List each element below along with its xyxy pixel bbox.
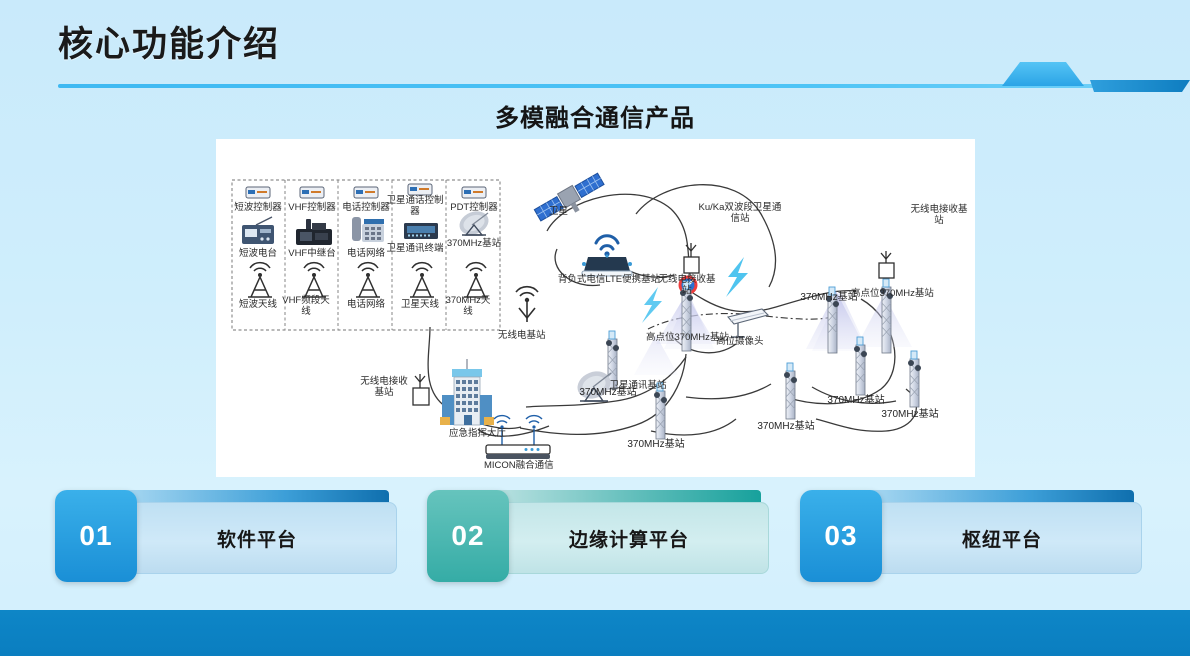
node-label-t370-6: 370MHz基站 xyxy=(875,409,945,421)
wireless-waves-icon xyxy=(516,287,538,322)
grid-cell-controller-3: 卫星通话控制器 xyxy=(386,194,444,217)
node-label-t370-3: 370MHz基站 xyxy=(751,421,821,433)
corner-accent-bump xyxy=(1002,62,1084,86)
radio-receiver-icon-left xyxy=(413,374,429,405)
node-label-radio-recv-mid: 无线电接收基站 xyxy=(656,275,718,297)
footer-bar xyxy=(0,610,1190,656)
card-label-1: 软件平台 xyxy=(189,525,297,552)
card-number-1: 01 xyxy=(55,490,137,582)
portable-basestation-icon xyxy=(582,236,632,276)
card-label-3: 枢纽平台 xyxy=(934,525,1042,552)
radio-receiver-icon-mid xyxy=(684,243,699,273)
corner-accent-tail xyxy=(1090,80,1190,92)
diagram-panel: 短波控制器 VHF控制器 电话控制器 卫星通话控制器 PDT控制器 短波电台 V… xyxy=(216,139,975,477)
building-icon xyxy=(440,359,494,425)
node-label-radio-recv-left: 无线电接收基站 xyxy=(356,377,412,399)
node-label-t370-5: 370MHz基站 xyxy=(821,395,891,407)
node-label-t370-1: 370MHz基站 xyxy=(573,387,643,399)
node-label-micon: MICON融合通信 xyxy=(484,461,554,472)
node-label-kuka-station: Ku/Ka双波段卫星通信站 xyxy=(698,203,782,225)
slide-root: 核心功能介绍 多模融合通信产品 xyxy=(0,0,1190,656)
platform-card-1[interactable]: 软件平台 01 xyxy=(55,490,395,582)
lightning-icon xyxy=(726,257,748,297)
diagram-subtitle: 多模融合通信产品 xyxy=(0,98,1190,133)
grid-cell-controller-4: PDT控制器 xyxy=(441,201,507,214)
controller-icons xyxy=(246,184,486,198)
node-label-t370-4: 370MHz基站 xyxy=(794,292,864,304)
node-label-t370-2: 370MHz基站 xyxy=(621,439,691,451)
antenna-tower-icons xyxy=(248,263,488,297)
platform-card-2[interactable]: 边缘计算平台 02 xyxy=(427,490,767,582)
grid-cell-antenna-1: VHF频段天线 xyxy=(280,294,332,317)
node-label-radio-base: 无线电基站 xyxy=(498,331,546,342)
node-label-satellite: 卫星 xyxy=(549,207,568,218)
grid-cell-device-4: 370MHz基站 xyxy=(441,237,507,250)
node-label-radio-recv-right: 无线电接收基站 xyxy=(906,205,972,227)
platform-card-3[interactable]: 枢纽平台 03 xyxy=(800,490,1140,582)
grid-cell-antenna-4: 370MHz天线 xyxy=(442,294,494,317)
page-title: 核心功能介绍 xyxy=(58,26,280,65)
grid-cell-device-3: 卫星通讯终端 xyxy=(386,242,444,255)
card-number-3: 03 xyxy=(800,490,882,582)
title-divider xyxy=(58,84,1128,88)
node-label-high-370-a: 高点位370MHz基站 xyxy=(646,333,729,344)
card-label-2: 边缘计算平台 xyxy=(541,525,689,552)
node-label-portable-lte: 背负式电信LTE便携基站 xyxy=(556,275,662,286)
card-number-2: 02 xyxy=(427,490,509,582)
camera-icon xyxy=(728,309,768,337)
satellite-icon xyxy=(533,171,609,229)
platform-cards: 软件平台 01 边缘计算平台 02 枢纽平台 03 xyxy=(55,490,1140,582)
node-label-command-hall: 应急指挥大厅 xyxy=(449,429,506,440)
